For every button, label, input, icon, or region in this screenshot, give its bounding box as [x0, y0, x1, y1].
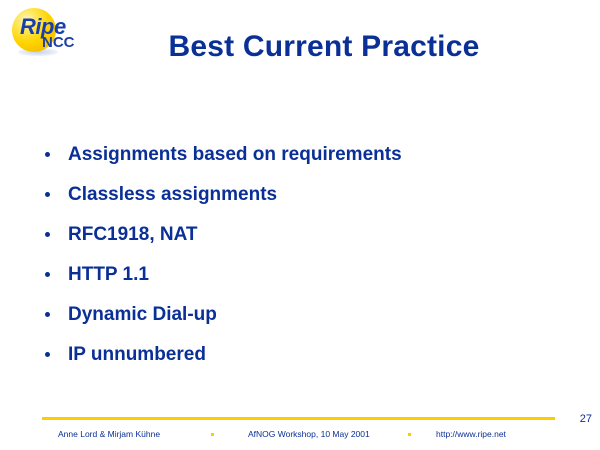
slide-canvas: Ripe NCC Best Current Practice Assignmen… — [0, 0, 600, 450]
list-item-label: Assignments based on requirements — [68, 144, 402, 165]
footer-url[interactable]: http://www.ripe.net — [436, 429, 506, 439]
list-item-label: Classless assignments — [68, 184, 277, 205]
list-item: Assignments based on requirements — [42, 143, 562, 183]
list-item: IP unnumbered — [42, 343, 562, 383]
list-item: HTTP 1.1 — [42, 263, 562, 303]
footer: Anne Lord & Mirjam Kühne AfNOG Workshop,… — [48, 427, 588, 443]
bullet-dot-icon — [45, 272, 50, 277]
footer-divider — [42, 417, 555, 420]
bullet-dot-icon — [45, 192, 50, 197]
list-item-label: RFC1918, NAT — [68, 224, 198, 245]
footer-separator-dot-icon — [211, 433, 214, 436]
bullet-dot-icon — [45, 352, 50, 357]
list-item-label: Dynamic Dial-up — [68, 304, 217, 325]
list-item-label: HTTP 1.1 — [68, 264, 149, 285]
bullet-dot-icon — [45, 152, 50, 157]
list-item: Dynamic Dial-up — [42, 303, 562, 343]
footer-event: AfNOG Workshop, 10 May 2001 — [248, 429, 370, 439]
list-item: Classless assignments — [42, 183, 562, 223]
bullet-dot-icon — [45, 312, 50, 317]
footer-author: Anne Lord & Mirjam Kühne — [58, 429, 160, 439]
list-item: RFC1918, NAT — [42, 223, 562, 263]
page-number: 27 — [580, 413, 592, 425]
footer-separator-dot-icon — [408, 433, 411, 436]
list-item-label: IP unnumbered — [68, 344, 206, 365]
bullet-dot-icon — [45, 232, 50, 237]
page-title: Best Current Practice — [0, 30, 600, 64]
bullet-list: Assignments based on requirements Classl… — [42, 143, 562, 383]
